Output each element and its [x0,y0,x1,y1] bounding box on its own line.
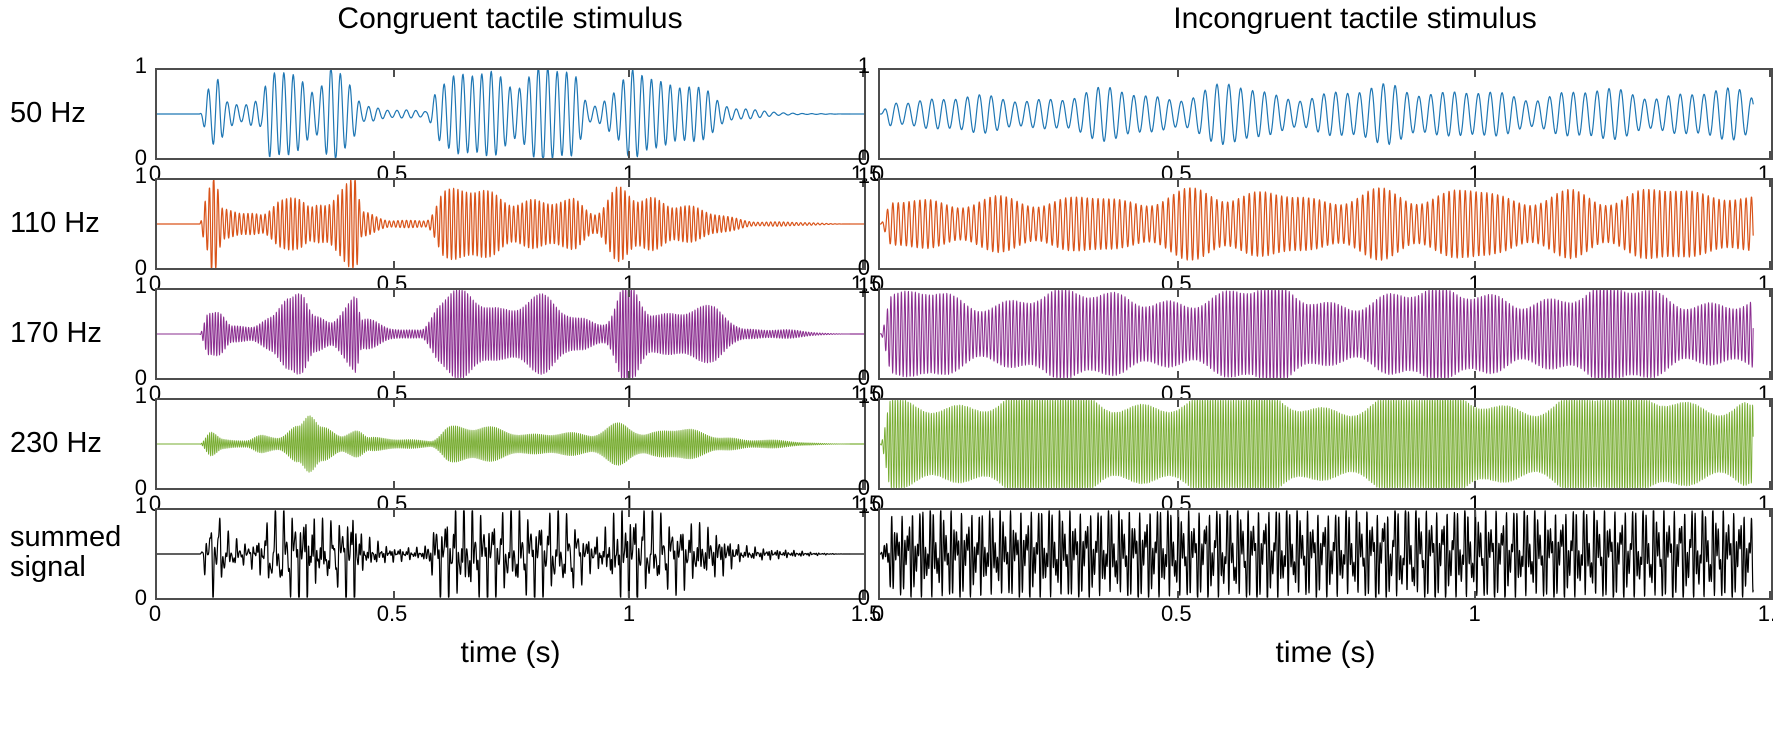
waveform-path [157,70,850,157]
xtick-mark [393,591,395,598]
xtick-mark [393,151,395,158]
waveform-congruent-f230 [157,400,864,488]
xtick-mark [393,180,395,187]
xtick-mark [1769,290,1771,297]
xtick-mark [1474,290,1476,297]
waveform-path [880,84,1753,145]
xtick-mark [1769,180,1771,187]
xtick-mark [1177,180,1179,187]
xtick-mark [628,70,630,77]
ytick-label-congruent-f50-1: 1 [119,55,147,77]
row-label-line: 50 Hz [10,99,150,129]
xtick-label-congruent-summed-0: 0 [115,603,195,625]
xtick-label-incongruent-summed-3: 1.5 [1733,603,1773,625]
axes-incongruent-f170 [878,288,1773,380]
xtick-mark [628,400,630,407]
xtick-mark [393,70,395,77]
xtick-mark [628,510,630,517]
xtick-mark [628,261,630,268]
axes-incongruent-f50 [878,68,1773,160]
xtick-mark [1769,371,1771,378]
xtick-mark [628,371,630,378]
xtick-mark [393,400,395,407]
xtick-mark [393,371,395,378]
xtick-label-congruent-summed-2: 1 [589,603,669,625]
waveform-path [157,180,850,267]
xtick-mark [1474,151,1476,158]
axes-congruent-f50 [155,68,866,160]
row-label-f110: 110 Hz [10,209,150,239]
xtick-mark [1177,371,1179,378]
axes-congruent-f110 [155,178,866,270]
xtick-mark [1769,70,1771,77]
waveform-path [880,290,1753,377]
xtick-mark [1177,261,1179,268]
waveform-path [880,188,1753,260]
xtick-mark [393,290,395,297]
ytick-label-incongruent-f230-1: 1 [842,385,870,407]
ytick-label-congruent-f170-1: 1 [119,275,147,297]
row-label-f50: 50 Hz [10,99,150,129]
ytick-label-incongruent-f110-1: 1 [842,165,870,187]
waveform-congruent-f110 [157,180,864,268]
axes-incongruent-f110 [878,178,1773,270]
xtick-mark [1474,591,1476,598]
panel-title-congruent: Congruent tactile stimulus [110,4,910,34]
xtick-mark [1769,481,1771,488]
waveform-path [157,511,850,597]
xtick-mark [1474,180,1476,187]
waveform-congruent-f50 [157,70,864,158]
axes-incongruent-f230 [878,398,1773,490]
xtick-mark [1177,70,1179,77]
xtick-mark [393,510,395,517]
ytick-label-congruent-summed-1: 1 [119,495,147,517]
xtick-mark [1177,400,1179,407]
waveform-congruent-summed [157,510,864,598]
ytick-label-incongruent-f50-1: 1 [842,55,870,77]
waveform-congruent-f170 [157,290,864,378]
ytick-label-incongruent-summed-1: 1 [842,495,870,517]
waveform-incongruent-f230 [880,400,1771,488]
panel-title-incongruent: Incongruent tactile stimulus [955,4,1755,34]
xtick-mark [1474,261,1476,268]
row-label-f230: 230 Hz [10,429,150,459]
xtick-mark [1474,70,1476,77]
ytick-label-congruent-f110-1: 1 [119,165,147,187]
xtick-mark [1177,481,1179,488]
xtick-mark [1177,151,1179,158]
waveform-incongruent-f170 [880,290,1771,378]
xaxis-label-congruent: time (s) [311,638,711,668]
xtick-mark [1769,510,1771,517]
xtick-mark [1474,400,1476,407]
xtick-mark [1769,591,1771,598]
xtick-mark [393,481,395,488]
xtick-label-incongruent-summed-0: 0 [838,603,918,625]
xtick-mark [1474,481,1476,488]
axes-incongruent-summed [878,508,1773,600]
row-label-summed: summedsignal [10,523,150,582]
ytick-label-congruent-f230-1: 1 [119,385,147,407]
xtick-mark [393,261,395,268]
xaxis-label-incongruent: time (s) [1126,638,1526,668]
xtick-mark [1177,290,1179,297]
xtick-mark [628,591,630,598]
xtick-label-congruent-summed-1: 0.5 [352,603,432,625]
row-label-line: summed [10,523,150,553]
xtick-mark [1177,591,1179,598]
row-label-line: 230 Hz [10,429,150,459]
xtick-mark [1769,400,1771,407]
waveform-incongruent-f50 [880,70,1771,158]
xtick-mark [628,180,630,187]
xtick-mark [1474,510,1476,517]
xtick-mark [628,290,630,297]
xtick-mark [628,481,630,488]
row-label-line: 170 Hz [10,319,150,349]
row-label-line: signal [10,553,150,583]
waveform-incongruent-f110 [880,180,1771,268]
row-label-f170: 170 Hz [10,319,150,349]
axes-congruent-f170 [155,288,866,380]
waveform-path [157,416,850,472]
ytick-label-incongruent-f170-1: 1 [842,275,870,297]
axes-congruent-f230 [155,398,866,490]
axes-congruent-summed [155,508,866,600]
xtick-label-incongruent-summed-1: 0.5 [1136,603,1216,625]
waveform-incongruent-summed [880,510,1771,598]
figure-canvas: Congruent tactile stimulus0100.511.50100… [0,0,1773,745]
waveform-path [880,511,1753,597]
row-label-line: 110 Hz [10,209,150,239]
waveform-path [880,400,1753,487]
xtick-mark [1769,261,1771,268]
waveform-path [157,290,850,377]
xtick-mark [1177,510,1179,517]
xtick-label-incongruent-summed-2: 1 [1435,603,1515,625]
xtick-mark [1769,151,1771,158]
xtick-mark [628,151,630,158]
xtick-mark [1474,371,1476,378]
